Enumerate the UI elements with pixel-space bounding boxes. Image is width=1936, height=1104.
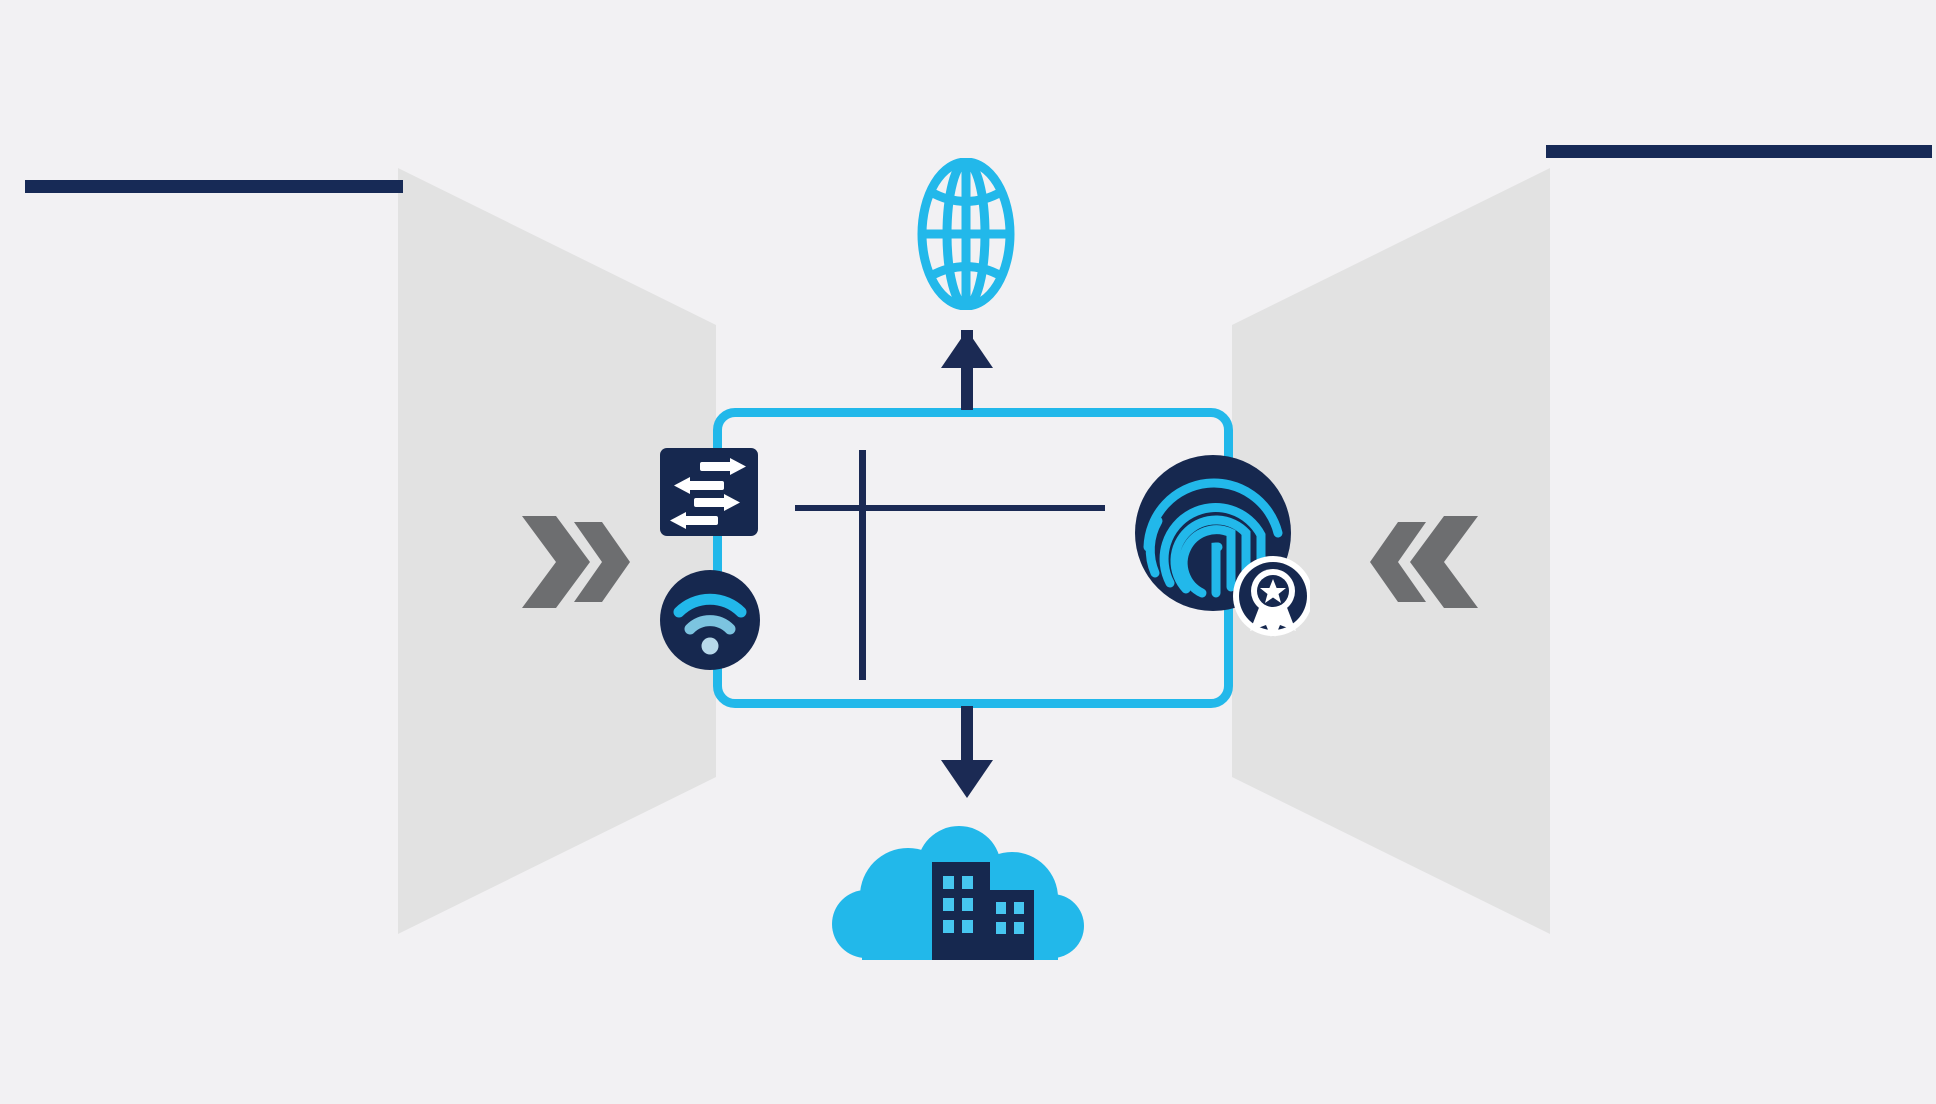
arrow-up-icon (941, 330, 993, 368)
cloud-building-icon (826, 824, 1092, 966)
matrix-vertical-axis (859, 450, 866, 680)
matrix-horizontal-axis (795, 505, 1105, 511)
wifi-icon (660, 570, 760, 670)
network-switch-icon (660, 448, 758, 536)
diagram-canvas (0, 0, 1936, 1104)
emm-mdm-divider (1546, 145, 1932, 158)
connector-line-down (961, 706, 973, 768)
policy-matrix (795, 450, 1175, 680)
double-chevron-left-icon (1370, 512, 1480, 612)
certificate-badge-icon (1233, 556, 1310, 637)
globe-icon (890, 158, 1042, 310)
device-support-divider (25, 180, 403, 193)
double-chevron-right-icon (520, 512, 630, 612)
arrow-down-icon (941, 760, 993, 798)
